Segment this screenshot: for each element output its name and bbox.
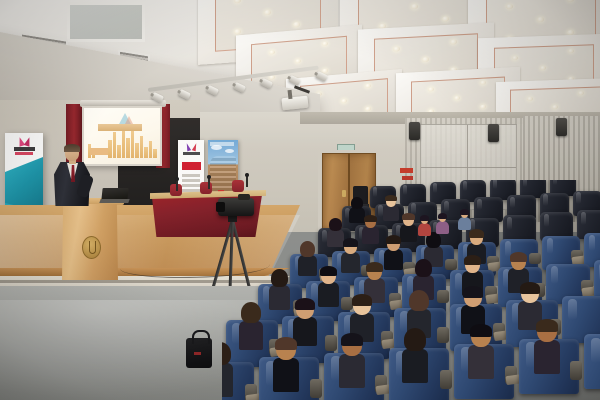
handbag-tag — [194, 352, 201, 355]
audience-member — [402, 329, 428, 390]
butterfly-icon — [186, 143, 197, 151]
audience-member — [362, 216, 379, 248]
audience-member-torso — [341, 252, 360, 273]
audience-member-hair — [420, 215, 429, 221]
slide-title-bar — [98, 124, 142, 131]
audience-member-hair — [402, 213, 415, 220]
audience-member — [273, 338, 299, 399]
auditorium-seat — [594, 260, 600, 300]
audience-member — [318, 267, 339, 312]
audience-member-torso — [269, 285, 290, 310]
audience-member-hair — [343, 238, 358, 247]
table-microphone — [176, 180, 178, 191]
audience-member — [418, 216, 431, 236]
audience-member-hair — [222, 342, 231, 365]
wall-mounted-speaker — [556, 118, 567, 136]
seat-armrest — [570, 361, 582, 380]
wall-sign-red — [400, 168, 413, 173]
seat-armrest — [437, 327, 449, 343]
ceiling-access-panel — [67, 2, 145, 42]
audience-member — [269, 270, 290, 315]
audience-member-torso — [318, 282, 339, 307]
audience-member-torso — [298, 255, 317, 276]
wooden-lectern — [58, 198, 122, 280]
ceiling-downlight — [578, 91, 584, 95]
panel-chair — [200, 182, 212, 194]
audience-member-hair — [386, 235, 401, 244]
audience-member-hair — [351, 197, 363, 209]
audience-member-hair — [241, 302, 261, 323]
audience-member-hair — [364, 215, 377, 222]
audience-member — [534, 320, 560, 381]
projector-mount — [288, 90, 293, 99]
audience-member-torso — [222, 363, 233, 397]
wall-mounted-speaker — [409, 122, 420, 140]
ceiling-downlight — [537, 17, 544, 22]
ceiling-downlight — [527, 96, 533, 100]
audience-member — [222, 343, 233, 400]
audience-member-hair — [385, 195, 397, 201]
wall-mounted-speaker — [488, 124, 499, 142]
audience-member-hair — [438, 213, 447, 219]
table-microphone — [208, 178, 210, 189]
seat-armrest — [529, 253, 541, 265]
audience-member-hair — [463, 286, 483, 298]
audience-member-hair — [329, 218, 342, 231]
ceiling-downlight — [411, 4, 418, 9]
lectern-emblem — [82, 236, 101, 259]
audience-member-torso — [383, 205, 399, 221]
ceiling-downlight — [506, 4, 513, 9]
audience-member-hair — [409, 290, 429, 311]
audience-member-hair — [271, 269, 288, 287]
audience-member — [468, 325, 494, 386]
audience-member-hair — [366, 262, 383, 272]
audience-member-hair — [300, 241, 315, 257]
audience-member-torso — [458, 217, 471, 230]
audience-member-hair — [464, 255, 481, 265]
audience-member — [341, 239, 360, 278]
seat-armrest — [325, 335, 337, 351]
audience-member — [458, 210, 471, 230]
audience-member-hair — [536, 319, 558, 332]
audience-member — [384, 236, 403, 275]
presenter-laptop — [100, 188, 128, 203]
presenter-at-podium — [52, 145, 90, 205]
audience-member-hair — [275, 337, 297, 350]
audience-member-torso — [436, 221, 449, 234]
audience-member-torso — [239, 321, 263, 350]
audience-member — [436, 214, 449, 234]
seat-armrest — [440, 370, 452, 389]
audience-member-hair — [352, 294, 372, 306]
seat-armrest — [437, 290, 449, 304]
audience-member-hair — [460, 209, 469, 215]
audience-member-torso — [273, 358, 299, 392]
butterfly-icon — [18, 137, 31, 146]
seat-armrest — [445, 259, 457, 271]
seat-armrest — [310, 379, 322, 398]
audience-member — [239, 303, 263, 356]
audience-member-torso — [402, 349, 428, 383]
audience-member-hair — [415, 259, 432, 277]
audience-member-hair — [295, 298, 315, 310]
audience-member-torso — [468, 345, 494, 379]
auditorium-seat — [584, 334, 600, 389]
audience-member-torso — [384, 249, 403, 270]
audience-member-torso — [418, 223, 431, 236]
audience-member-torso — [339, 354, 365, 388]
audience-member-torso — [362, 226, 379, 244]
audience-member-hair — [470, 324, 492, 337]
audience-member — [339, 334, 365, 395]
audience-member-hair — [510, 252, 527, 262]
audience-member — [383, 196, 399, 225]
audience-member-hair — [469, 229, 484, 238]
handbag-handle — [192, 330, 210, 344]
seated-audience — [222, 180, 600, 400]
audience-member-torso — [534, 340, 560, 374]
audience-member — [298, 242, 317, 281]
ceiling-downlight — [322, 68, 328, 73]
audience-member-hair — [404, 328, 426, 351]
auditorium-photo — [0, 0, 600, 400]
audience-member-hair — [320, 266, 337, 276]
audience-member-hair — [341, 333, 363, 346]
slide-accent-block — [90, 148, 108, 155]
audience-member-hair — [520, 282, 540, 294]
